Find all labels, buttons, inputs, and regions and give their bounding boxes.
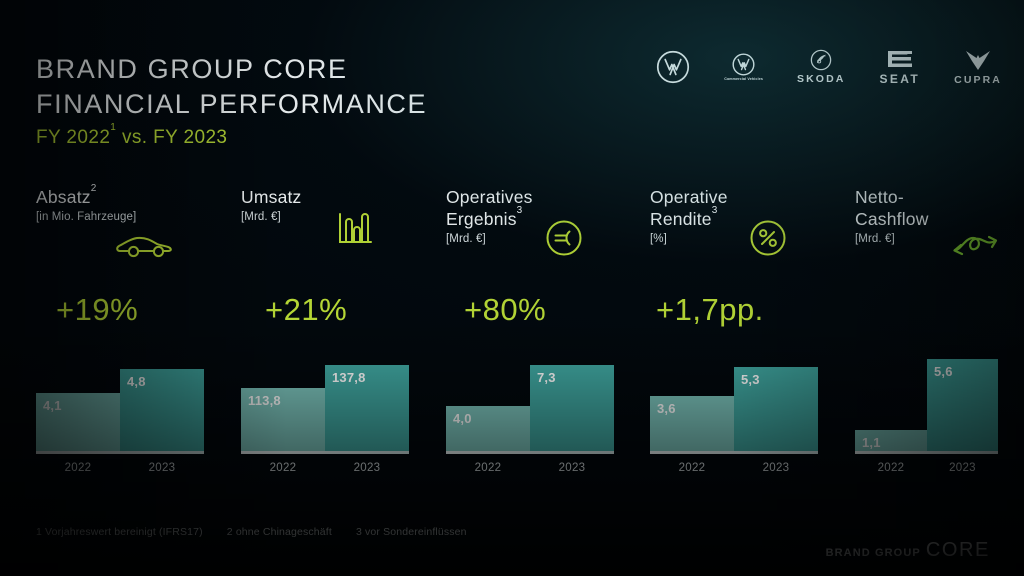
kpi-title: Absatz2 xyxy=(36,186,226,208)
brand-group-core-logo: BRAND GROUP CORE xyxy=(826,539,990,562)
bar-value-2023: 5,3 xyxy=(741,372,760,387)
x-axis-labels: 2022 2023 xyxy=(241,462,409,478)
bar-2023: 7,3 xyxy=(530,365,614,454)
bar-2023: 4,8 xyxy=(120,369,204,454)
kpi-bar-chart: 113,8 137,8 2022 2023 xyxy=(241,354,409,470)
footnote-1: 1 Vorjahreswert bereinigt (IFRS17) xyxy=(36,526,203,538)
kpi-delta: +80% xyxy=(464,292,546,328)
bar-value-2023: 137,8 xyxy=(332,370,366,385)
footnotes: 1 Vorjahreswert bereinigt (IFRS17) 2 ohn… xyxy=(36,526,467,538)
bar-2023: 137,8 xyxy=(325,365,409,454)
chart-baseline xyxy=(241,451,409,454)
kpi-title-footnote-marker: 2 xyxy=(91,183,97,194)
kpi-title: Netto- Cashflow xyxy=(855,186,1024,230)
skoda-logo: SKODA xyxy=(797,49,845,85)
kpi-title-footnote-marker: 3 xyxy=(517,205,523,216)
bar-value-2023: 5,6 xyxy=(934,364,953,379)
euro-circle-icon xyxy=(544,218,584,263)
vw-roundel-icon xyxy=(732,53,755,76)
kpi-title: Operative Rendite3 xyxy=(650,186,840,230)
chart-baseline xyxy=(650,451,818,454)
brand-group-text: BRAND GROUP xyxy=(826,547,921,559)
car-icon xyxy=(114,232,174,265)
kpi-title-text: Absatz xyxy=(36,187,91,207)
x-label-2023: 2023 xyxy=(927,462,998,474)
bar-value-2022: 113,8 xyxy=(248,393,281,408)
skoda-wordmark: SKODA xyxy=(797,73,845,85)
bar-group: 113,8 137,8 xyxy=(241,354,409,454)
vw-roundel-icon xyxy=(656,50,690,84)
kpi-column-umsatz: Umsatz [Mrd. €] +21% 113,8 xyxy=(241,186,431,272)
x-axis-labels: 2022 2023 xyxy=(36,462,204,478)
bar-value-2022: 4,1 xyxy=(43,398,62,413)
x-axis-labels: 2022 2023 xyxy=(650,462,818,478)
x-label-2022: 2022 xyxy=(855,462,927,474)
footnote-3: 3 vor Sondereinflüssen xyxy=(356,526,467,538)
kpi-bar-chart: 3,6 5,3 2022 2023 xyxy=(650,354,818,470)
x-label-2023: 2023 xyxy=(530,462,614,474)
brand-logo-strip: Commercial Vehicles SKODA SEAT CUPRA xyxy=(656,48,1002,86)
subtitle-prefix: FY 2022 xyxy=(36,127,110,148)
volkswagen-logo xyxy=(656,50,690,84)
bar-value-2023: 7,3 xyxy=(537,370,556,385)
kpi-delta: +21% xyxy=(265,292,347,328)
core-text: CORE xyxy=(926,539,990,562)
bar-2022: 4,0 xyxy=(446,406,530,454)
exchange-arrows-icon xyxy=(951,230,1001,267)
page-subtitle: FY 20221 vs. FY 2023 xyxy=(36,127,427,149)
kpi-column-operatives-ergebnis: Operatives Ergebnis3 [Mrd. €] +80% 4,0 xyxy=(446,186,636,272)
vw-commercial-vehicles-caption: Commercial Vehicles xyxy=(724,77,763,81)
x-label-2022: 2022 xyxy=(650,462,734,474)
x-label-2022: 2022 xyxy=(446,462,530,474)
kpi-header: Operatives Ergebnis3 [Mrd. €] xyxy=(446,186,636,272)
x-label-2022: 2022 xyxy=(241,462,325,474)
x-label-2023: 2023 xyxy=(734,462,818,474)
page-title-line1: BRAND GROUP CORE xyxy=(36,52,427,87)
kpi-header: Umsatz [Mrd. €] xyxy=(241,186,431,272)
seat-s-icon xyxy=(885,48,915,70)
x-axis-labels: 2022 2023 xyxy=(855,462,998,478)
subtitle-footnote-marker: 1 xyxy=(110,122,116,133)
kpi-bar-chart: 4,0 7,3 2022 2023 xyxy=(446,354,614,470)
bar-group: 3,6 5,3 xyxy=(650,354,818,454)
chart-baseline xyxy=(36,451,204,454)
kpi-column-operative-rendite: Operative Rendite3 [%] +1,7pp. 3,6 xyxy=(650,186,840,272)
kpi-unit: [Mrd. €] xyxy=(446,233,636,245)
slide-canvas: BRAND GROUP CORE FINANCIAL PERFORMANCE F… xyxy=(0,0,1024,576)
bar-group: 4,0 7,3 xyxy=(446,354,614,454)
bar-chart-icon xyxy=(337,210,373,253)
volkswagen-commercial-vehicles-logo: Commercial Vehicles xyxy=(724,53,763,81)
bar-2022: 3,6 xyxy=(650,396,734,454)
bar-value-2022: 1,1 xyxy=(862,435,881,450)
page-title-line2: FINANCIAL PERFORMANCE xyxy=(36,87,427,122)
percent-circle-icon xyxy=(748,218,788,263)
bar-value-2022: 3,6 xyxy=(657,401,676,416)
bar-value-2023: 4,8 xyxy=(127,374,146,389)
x-label-2023: 2023 xyxy=(325,462,409,474)
kpi-column-netto-cashflow: Netto- Cashflow [Mrd. €] 1,1 xyxy=(855,186,1024,272)
kpi-columns: Absatz2 [in Mio. Fahrzeuge] +19% 4,1 xyxy=(0,186,1024,486)
kpi-unit: [in Mio. Fahrzeuge] xyxy=(36,211,226,223)
kpi-delta: +1,7pp. xyxy=(656,292,764,328)
kpi-unit: [Mrd. €] xyxy=(241,211,431,223)
seat-logo: SEAT xyxy=(879,48,920,86)
seat-wordmark: SEAT xyxy=(879,72,920,86)
kpi-header: Operative Rendite3 [%] xyxy=(650,186,840,272)
kpi-title: Operatives Ergebnis3 xyxy=(446,186,636,230)
kpi-delta: +19% xyxy=(56,292,138,328)
cupra-tribal-icon xyxy=(964,48,992,72)
x-label-2022: 2022 xyxy=(36,462,120,474)
kpi-header: Netto- Cashflow [Mrd. €] xyxy=(855,186,1024,272)
kpi-title-text: Netto- Cashflow xyxy=(855,187,929,229)
chart-baseline xyxy=(855,451,998,454)
kpi-title: Umsatz xyxy=(241,186,431,208)
kpi-bar-chart: 1,1 5,6 2022 2023 xyxy=(855,354,998,470)
bar-2022: 4,1 xyxy=(36,393,120,454)
x-axis-labels: 2022 2023 xyxy=(446,462,614,478)
kpi-title-footnote-marker: 3 xyxy=(712,205,718,216)
subtitle-suffix: vs. FY 2023 xyxy=(116,127,227,148)
chart-baseline xyxy=(446,451,614,454)
kpi-bar-chart: 4,1 4,8 2022 2023 xyxy=(36,354,204,470)
bar-2023: 5,6 xyxy=(927,359,998,454)
bar-2022: 113,8 xyxy=(241,388,325,454)
bar-group: 1,1 5,6 xyxy=(855,354,998,454)
footnote-2: 2 ohne Chinageschäft xyxy=(227,526,332,538)
cupra-wordmark: CUPRA xyxy=(954,74,1002,86)
kpi-column-absatz: Absatz2 [in Mio. Fahrzeuge] +19% 4,1 xyxy=(36,186,226,272)
cupra-logo: CUPRA xyxy=(954,48,1002,86)
skoda-winged-arrow-icon xyxy=(810,49,832,71)
kpi-header: Absatz2 [in Mio. Fahrzeuge] xyxy=(36,186,226,272)
bar-value-2022: 4,0 xyxy=(453,411,472,426)
header: BRAND GROUP CORE FINANCIAL PERFORMANCE F… xyxy=(36,52,427,149)
kpi-title-text: Umsatz xyxy=(241,187,302,207)
kpi-unit: [%] xyxy=(650,233,840,245)
bar-group: 4,1 4,8 xyxy=(36,354,204,454)
bar-2023: 5,3 xyxy=(734,367,818,454)
x-label-2023: 2023 xyxy=(120,462,204,474)
